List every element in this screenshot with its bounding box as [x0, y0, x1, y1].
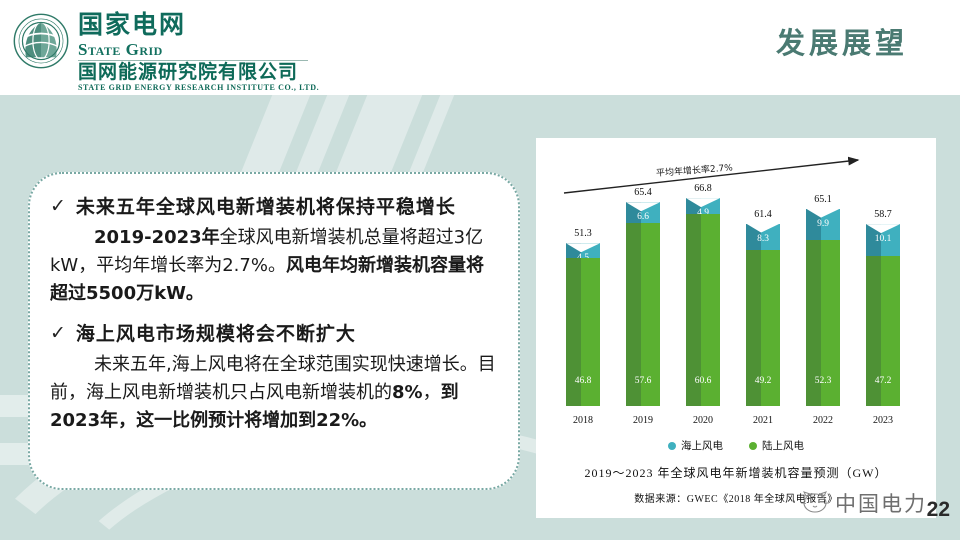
x-axis-tick-2021: 2021 [733, 415, 793, 426]
bullet-2-body-bold-1: 8% [392, 382, 423, 403]
bullet-block-2: ✓ 海上风电市场规模将会不断扩大 未来五年,海上风电将在全球范围实现快速增长。目… [50, 323, 498, 434]
bar-total-2022: 65.1 [793, 194, 853, 205]
bar-2018: 51.34.546.8 [566, 243, 600, 406]
x-axis-tick-2018: 2018 [553, 415, 613, 426]
x-axis-tick-2019: 2019 [613, 415, 673, 426]
bar-total-2019: 65.4 [613, 187, 673, 198]
legend-swatch-icon [749, 442, 757, 450]
watermark: 中国电力 [800, 488, 927, 518]
slide-title: 发展展望 [776, 20, 908, 62]
bar-label-offshore-2021: 8.3 [746, 234, 780, 244]
check-icon-2: ✓ [50, 323, 66, 344]
bar-segment-onshore-2022: 52.3 [806, 240, 840, 406]
bar-segment-onshore-2019: 57.6 [626, 223, 660, 406]
legend-item-海上风电: 海上风电 [668, 438, 723, 453]
check-icon: ✓ [50, 196, 66, 217]
institute-name-en: STATE GRID ENERGY RESEARCH INSTITUTE CO.… [78, 83, 319, 92]
institute-name-cn: 国网能源研究院有限公司 [78, 62, 298, 83]
bar-label-onshore-2019: 57.6 [626, 376, 660, 386]
legend-swatch-icon [668, 442, 676, 450]
bar-segment-onshore-2021: 49.2 [746, 250, 780, 406]
legend-label: 海上风电 [681, 438, 723, 453]
bullet-2-heading: 海上风电市场规模将会不断扩大 [76, 323, 356, 347]
bullet-2-body: 未来五年,海上风电将在全球范围实现快速增长。目前，海上风电新增装机只占风电新增装… [50, 351, 498, 435]
bar-label-offshore-2022: 9.9 [806, 219, 840, 229]
bullet-1-body: 2019-2023年全球风电新增装机总量将超过3亿kW，平均年增长率为2.7%。… [50, 224, 498, 308]
chart-panel: 平均年增长率2.7% 51.34.546.8201865.46.657.6201… [536, 138, 936, 518]
bar-label-onshore-2020: 60.6 [686, 376, 720, 386]
bar-total-2018: 51.3 [553, 228, 613, 239]
chart-title: 2019～2023 年全球风电年新增装机容量预测（GW） [536, 464, 936, 481]
bar-segment-onshore-2023: 47.2 [866, 256, 900, 406]
bar-2019: 65.46.657.6 [626, 202, 660, 406]
watermark-text: 中国电力 [835, 488, 927, 518]
bar-segment-offshore-2022: 9.9 [806, 209, 840, 240]
bar-label-onshore-2018: 46.8 [566, 376, 600, 386]
bar-total-2020: 66.8 [673, 183, 733, 194]
bar-segment-onshore-2020: 60.6 [686, 214, 720, 406]
brand-name-cn: 国家电网 [78, 12, 186, 38]
bullet-2-body-normal-2: ， [423, 382, 441, 403]
bar-label-onshore-2022: 52.3 [806, 376, 840, 386]
bullet-1-body-bold-1: 2019-2023年 [94, 227, 220, 248]
x-axis-tick-2020: 2020 [673, 415, 733, 426]
chart-plot-area: 平均年增长率2.7% 51.34.546.8201865.46.657.6201… [536, 138, 936, 448]
bar-2023: 58.710.147.2 [866, 224, 900, 406]
bar-segment-offshore-2021: 8.3 [746, 224, 780, 250]
page-number: 22 [927, 498, 950, 522]
slide: 国家电网 State Grid 国网能源研究院有限公司 STATE GRID E… [0, 0, 960, 540]
bar-2021: 61.48.349.2 [746, 224, 780, 406]
bar-label-offshore-2023: 10.1 [866, 234, 900, 244]
bar-segment-offshore-2019: 6.6 [626, 202, 660, 223]
content-card: ✓ 未来五年全球风电新增装机将保持平稳增长 2019-2023年全球风电新增装机… [28, 172, 520, 490]
chart-legend: 海上风电陆上风电 [536, 438, 936, 453]
state-grid-globe-logo [12, 12, 70, 70]
bar-total-2021: 61.4 [733, 209, 793, 220]
bar-total-2023: 58.7 [853, 209, 913, 220]
slide-header: 国家电网 State Grid 国网能源研究院有限公司 STATE GRID E… [0, 0, 960, 95]
bullet-1-heading: 未来五年全球风电新增装机将保持平稳增长 [76, 196, 456, 220]
x-axis-tick-2022: 2022 [793, 415, 853, 426]
bar-label-onshore-2021: 49.2 [746, 376, 780, 386]
cat-face-logo [800, 491, 830, 515]
bar-segment-offshore-2020: 4.9 [686, 198, 720, 214]
bar-segment-offshore-2023: 10.1 [866, 224, 900, 256]
bar-label-onshore-2023: 47.2 [866, 376, 900, 386]
bar-2022: 65.19.952.3 [806, 209, 840, 406]
bar-segment-offshore-2018: 4.5 [566, 243, 600, 257]
bar-2020: 66.84.960.6 [686, 198, 720, 406]
bullet-block-1: ✓ 未来五年全球风电新增装机将保持平稳增长 2019-2023年全球风电新增装机… [50, 196, 498, 307]
brand-name-en: State Grid [78, 40, 163, 60]
bar-label-offshore-2019: 6.6 [626, 212, 660, 222]
x-axis-tick-2023: 2023 [853, 415, 913, 426]
legend-item-陆上风电: 陆上风电 [749, 438, 804, 453]
legend-label: 陆上风电 [762, 438, 804, 453]
bar-segment-onshore-2018: 46.8 [566, 258, 600, 407]
